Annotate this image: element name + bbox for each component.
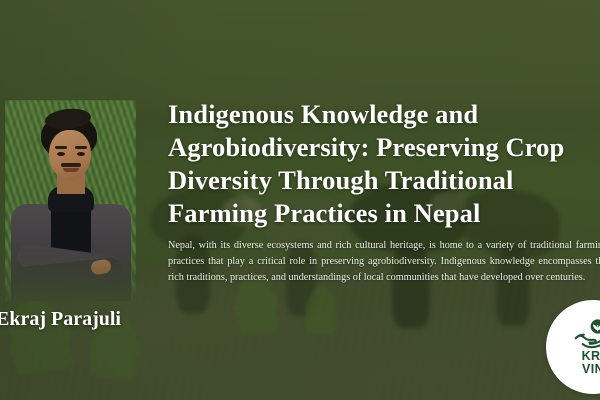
article-text-block: Indigenous Knowledge and Agrobiodiversit… xyxy=(168,98,600,285)
author-name: Ekraj Parajuli xyxy=(0,306,121,332)
page-title: Indigenous Knowledge and Agrobiodiversit… xyxy=(168,98,600,230)
brand-logo-text: KRI VIN xyxy=(582,350,600,376)
title-line-2: Agrobiodiversity: Preserving Crop xyxy=(168,131,600,164)
article-lede: Nepal, with its diverse ecosystems and r… xyxy=(168,238,600,285)
title-line-4: Farming Practices in Nepal xyxy=(168,197,600,230)
author-portrait xyxy=(5,100,136,301)
portrait-bottom-fade xyxy=(5,100,136,301)
brand-logo-line-1: KRI xyxy=(582,350,600,363)
article-banner: Indigenous Knowledge and Agrobiodiversit… xyxy=(0,0,600,400)
title-line-3: Diversity Through Traditional xyxy=(168,164,600,197)
title-line-1: Indigenous Knowledge and xyxy=(168,98,600,131)
hand-holding-plant-icon xyxy=(574,319,600,349)
brand-logo-line-2: VIN xyxy=(582,363,600,376)
